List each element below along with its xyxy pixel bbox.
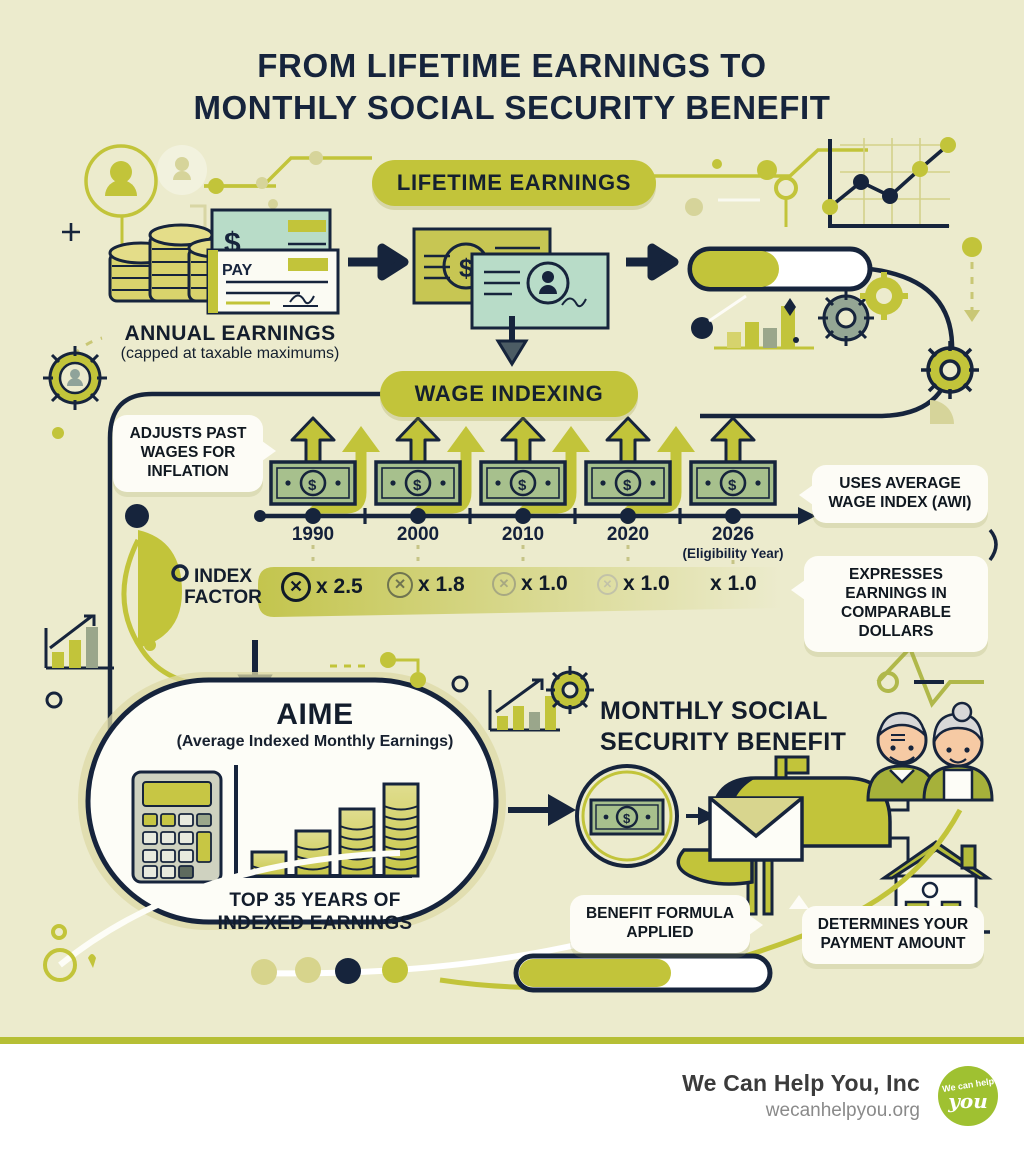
icon-currency-bills: $ xyxy=(414,229,608,328)
multiply-icon: ✕ xyxy=(597,574,618,595)
aime-bar-3 xyxy=(340,809,374,876)
timeline-year-sub-2026: (Eligibility Year) xyxy=(673,546,793,561)
infographic-root: $ $ xyxy=(0,0,1024,1154)
title-line-1: FROM LIFETIME EARNINGS TO xyxy=(257,47,766,84)
multiply-icon: ✕ xyxy=(492,572,516,596)
index-factor-value: x 1.0 xyxy=(521,572,568,596)
callout-determines-payment: DETERMINES YOUR PAYMENT AMOUNT xyxy=(802,906,984,964)
label-annual-earnings-sub: (capped at taxable maximums) xyxy=(70,345,390,363)
timeline-year-2000: 2000 xyxy=(378,524,458,546)
timeline-year-1990: 1990 xyxy=(273,524,353,546)
icon-mailbox xyxy=(678,757,890,914)
index-factor-2020: ✕x 1.0 xyxy=(597,572,670,596)
svg-text:$: $ xyxy=(308,477,317,494)
arrow-bills-to-progress xyxy=(626,248,674,276)
footer-divider xyxy=(0,1037,1024,1044)
svg-text:$: $ xyxy=(623,811,631,826)
footer: We Can Help You, Inc wecanhelpyou.org We… xyxy=(0,1044,1024,1154)
timeline-year-2020: 2020 xyxy=(588,524,668,546)
pill-lifetime-earnings: LIFETIME EARNINGS xyxy=(372,160,656,206)
label-aime-heading: AIME xyxy=(150,698,480,732)
svg-text:$: $ xyxy=(518,477,527,494)
progress-bar-bottom[interactable] xyxy=(516,956,770,990)
label-check-pay: PAY xyxy=(222,262,252,280)
svg-text:$: $ xyxy=(623,477,632,494)
index-factor-1990: ✕x 2.5 xyxy=(281,572,363,602)
timeline-year-2010: 2010 xyxy=(483,524,563,546)
label-top-35-years: TOP 35 YEARS OFINDEXED EARNINGS xyxy=(150,890,480,936)
decor-callout-link xyxy=(990,530,996,560)
label-aime-subheading: (Average Indexed Monthly Earnings) xyxy=(130,733,500,751)
svg-text:$: $ xyxy=(728,477,737,494)
icon-calculator xyxy=(133,772,221,882)
index-factor-2010: ✕x 1.0 xyxy=(492,572,568,596)
multiply-icon: ✕ xyxy=(387,572,413,598)
badge-bottom-text: you xyxy=(948,1091,988,1111)
multiply-icon: ✕ xyxy=(281,572,311,602)
callout-uses-awi: USES AVERAGE WAGE INDEX (AWI) xyxy=(812,465,988,523)
index-factor-2000: ✕x 1.8 xyxy=(387,572,465,598)
brand-url[interactable]: wecanhelpyou.org xyxy=(682,1098,920,1124)
callout-expresses-earnings: EXPRESSES EARNINGS IN COMPARABLE DOLLARS xyxy=(804,556,988,652)
svg-text:$: $ xyxy=(413,477,422,494)
callout-adjusts-past-wages: ADJUSTS PAST WAGES FOR INFLATION xyxy=(113,415,263,492)
label-monthly-benefit: MONTHLY SOCIALSECURITY BENEFIT xyxy=(600,696,920,757)
brand-badge-logo: We can help you xyxy=(938,1066,998,1126)
callout-benefit-formula: BENEFIT FORMULA APPLIED xyxy=(570,895,750,953)
decor-blob-left xyxy=(138,530,182,648)
index-factor-value: x 1.0 xyxy=(710,572,757,596)
title-line-2: MONTHLY SOCIAL SECURITY BENEFIT xyxy=(0,87,1024,129)
arrow-earnings-to-bills xyxy=(348,248,404,276)
arrow-aime-to-benefit xyxy=(508,794,576,826)
decor-chart-gear-benefit xyxy=(490,666,594,730)
label-annual-earnings: ANNUAL EARNINGS xyxy=(70,322,390,346)
label-index-factor: INDEXFACTOR xyxy=(178,566,268,609)
decor-bar-chart-left xyxy=(46,616,114,707)
progress-bar-top[interactable] xyxy=(690,249,870,289)
index-factor-value: x 2.5 xyxy=(316,575,363,599)
page-title: FROM LIFETIME EARNINGS TO MONTHLY SOCIAL… xyxy=(0,45,1024,129)
pill-wage-indexing: WAGE INDEXING xyxy=(380,371,638,417)
index-factor-value: x 1.8 xyxy=(418,573,465,597)
timeline-year-2026: 2026 xyxy=(693,524,773,546)
brand-name: We Can Help You, Inc xyxy=(682,1069,920,1098)
index-factor-2026: x 1.0 xyxy=(710,572,757,596)
index-factor-value: x 1.0 xyxy=(623,572,670,596)
infographic-canvas: $ $ xyxy=(0,0,1024,1037)
